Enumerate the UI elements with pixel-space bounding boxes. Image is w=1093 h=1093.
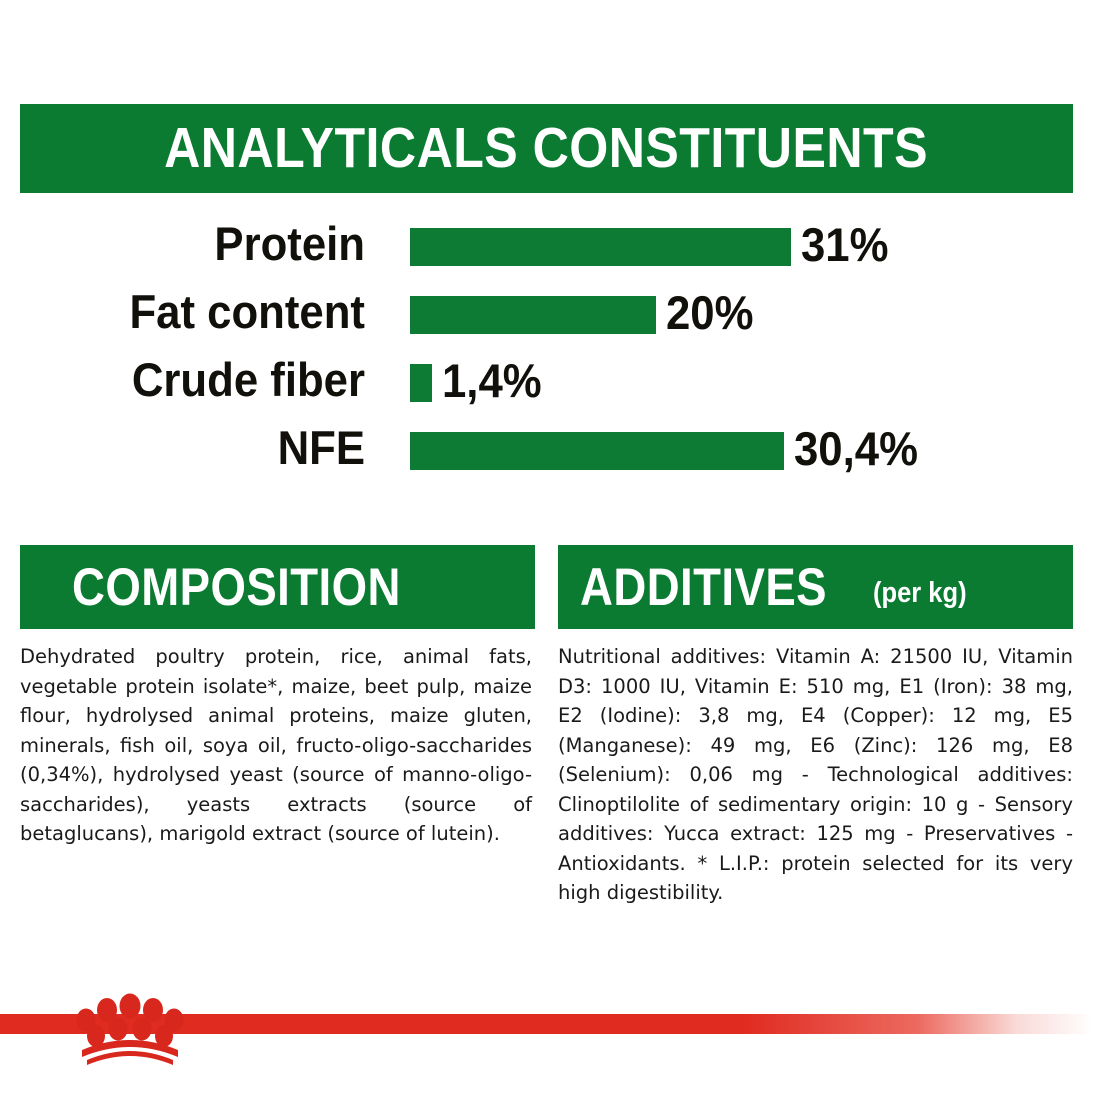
chart-row: Protein31%: [0, 214, 1093, 282]
chart-value-label: 1,4%: [442, 350, 542, 412]
composition-heading: COMPOSITION: [72, 561, 401, 614]
analyticals-bar-chart: Protein31%Fat content20%Crude fiber1,4%N…: [0, 214, 1093, 494]
chart-value-label: 31%: [801, 214, 888, 276]
additives-heading: ADDITIVES: [580, 561, 827, 614]
chart-value-label: 30,4%: [794, 418, 918, 480]
additives-text: Nutritional additives: Vitamin A: 21500 …: [558, 642, 1073, 908]
chart-row-label: Crude fiber: [26, 350, 365, 410]
chart-bar: [410, 364, 432, 402]
chart-row: NFE30,4%: [0, 418, 1093, 486]
analyticals-constituents-heading: ANALYTICALS CONSTITUENTS: [165, 120, 929, 177]
composition-text: Dehydrated poultry protein, rice, animal…: [20, 642, 532, 849]
chart-value-label: 20%: [666, 282, 753, 344]
chart-row-label: Protein: [26, 214, 365, 274]
chart-row-label: NFE: [26, 418, 365, 478]
chart-bar: [410, 432, 784, 470]
crown-icon: [74, 986, 186, 1068]
additives-subheading: (per kg): [873, 579, 967, 608]
chart-bar: [410, 228, 791, 266]
composition-banner: COMPOSITION: [20, 545, 535, 629]
chart-row-label: Fat content: [26, 282, 365, 342]
analyticals-constituents-banner: ANALYTICALS CONSTITUENTS: [20, 104, 1073, 193]
nutrition-panel: ANALYTICALS CONSTITUENTS Protein31%Fat c…: [0, 0, 1093, 1093]
chart-row: Fat content20%: [0, 282, 1093, 350]
chart-bar: [410, 296, 656, 334]
additives-banner: ADDITIVES (per kg): [558, 545, 1073, 629]
chart-row: Crude fiber1,4%: [0, 350, 1093, 418]
